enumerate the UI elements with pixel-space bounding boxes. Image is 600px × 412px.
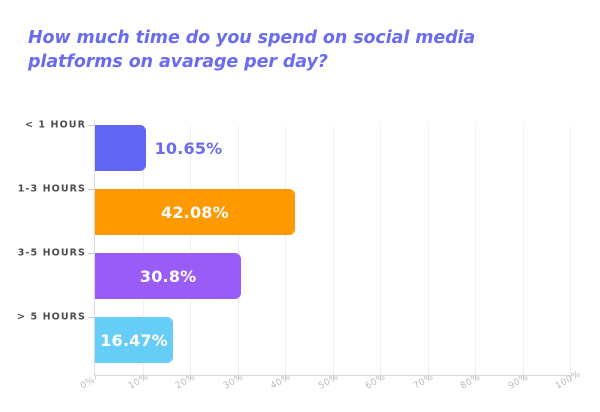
- gridline: [570, 126, 571, 374]
- gridline: [333, 126, 334, 374]
- bar-chart: How much time do you spend on social med…: [0, 0, 600, 412]
- y-axis-tick: [88, 189, 94, 190]
- bar-value-label: 10.65%: [146, 125, 223, 171]
- plot-area: 10.65%42.08%30.8%16.47%: [95, 120, 570, 374]
- bar[interactable]: [95, 125, 146, 171]
- bar-value-label: 42.08%: [95, 189, 295, 235]
- y-axis-category-label: < 1 HOUR: [25, 120, 86, 131]
- y-axis-tick: [88, 253, 94, 254]
- gridline: [238, 126, 239, 374]
- y-axis-tick: [88, 317, 94, 318]
- bar-value-label: 30.8%: [95, 253, 241, 299]
- gridline: [428, 126, 429, 374]
- bar-value-label: 16.47%: [95, 317, 173, 363]
- y-axis-category-label: > 5 HOURS: [17, 312, 86, 323]
- y-axis-category-label: 1-3 HOURS: [18, 184, 86, 195]
- gridline: [285, 126, 286, 374]
- x-axis-tick: [95, 375, 96, 380]
- gridline: [475, 126, 476, 374]
- y-axis-category-labels: < 1 HOUR1-3 HOURS3-5 HOURS> 5 HOURS: [0, 0, 86, 412]
- gridline: [523, 126, 524, 374]
- chart-title: How much time do you spend on social med…: [28, 26, 548, 74]
- y-axis-tick: [88, 125, 94, 126]
- y-axis-category-label: 3-5 HOURS: [18, 248, 86, 259]
- gridline: [380, 126, 381, 374]
